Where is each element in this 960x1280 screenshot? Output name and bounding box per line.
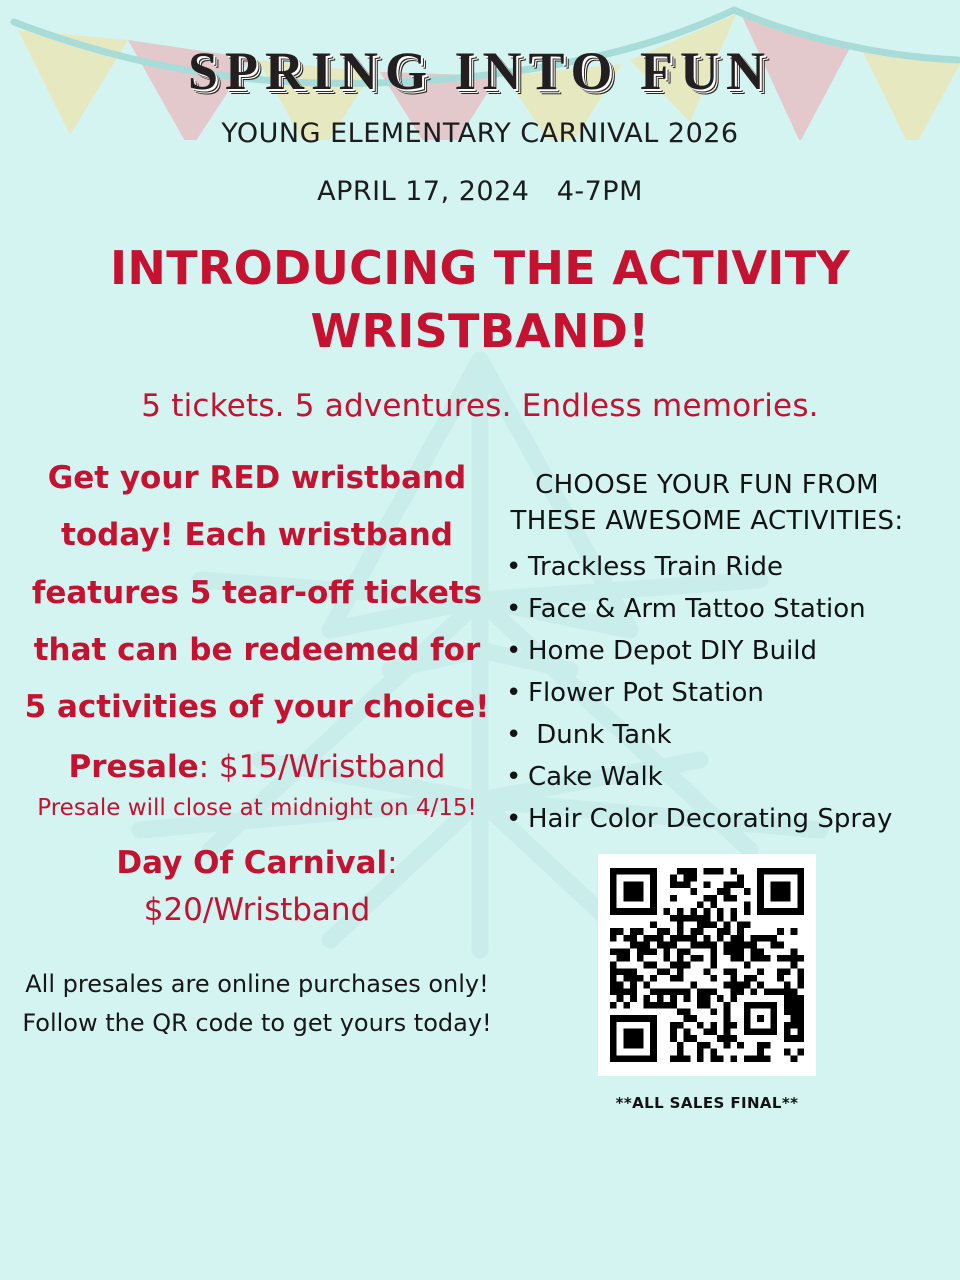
list-item: Cake Walk — [498, 756, 922, 798]
list-item: Home Depot DIY Build — [498, 630, 922, 672]
activities-heading: CHOOSE YOUR FUN FROM THESE AWESOME ACTIV… — [492, 468, 922, 540]
dayof-label: Day Of Carnival — [116, 845, 387, 881]
list-item: Face & Arm Tattoo Station — [498, 588, 922, 630]
headline-line-1: INTRODUCING THE ACTIVITY — [85, 237, 875, 300]
presale-price-line: Presale: $15/Wristband — [22, 747, 492, 788]
wristband-pitch: Get your RED wristband today! Each wrist… — [22, 450, 492, 737]
qr-code[interactable] — [598, 854, 816, 1076]
headline-block: INTRODUCING THE ACTIVITY WRISTBAND! — [85, 237, 875, 364]
flyer-header: SPRING INTO FUN YOUNG ELEMENTARY CARNIVA… — [0, 0, 960, 207]
dayof-colon: : — [387, 845, 397, 881]
closing-instructions: All presales are online purchases only! … — [22, 965, 492, 1043]
presale-amount: : $15/Wristband — [199, 749, 446, 785]
list-item: Flower Pot Station — [498, 672, 922, 714]
list-item: Dunk Tank — [498, 714, 922, 756]
event-subtitle: YOUNG ELEMENTARY CARNIVAL 2026 — [0, 118, 960, 149]
carnival-flyer: SPRING INTO FUN YOUNG ELEMENTARY CARNIVA… — [0, 0, 960, 1280]
event-datetime: APRIL 17, 2024 4-7PM — [0, 176, 960, 207]
presale-label: Presale — [69, 749, 199, 785]
headline-line-2: WRISTBAND! — [85, 300, 875, 363]
presale-note: Presale will close at midnight on 4/15! — [22, 792, 492, 825]
all-sales-final-note: **ALL SALES FINAL** — [492, 1094, 922, 1112]
body-columns: Get your RED wristband today! Each wrist… — [0, 450, 960, 1113]
list-item: Hair Color Decorating Spray — [498, 798, 922, 840]
tagline: 5 tickets. 5 adventures. Endless memorie… — [0, 388, 960, 424]
right-column: CHOOSE YOUR FUN FROM THESE AWESOME ACTIV… — [492, 450, 922, 1113]
main-title: SPRING INTO FUN — [0, 44, 960, 98]
left-column: Get your RED wristband today! Each wrist… — [22, 450, 492, 1043]
dayof-price-line: Day Of Carnival: $20/Wristband — [22, 843, 492, 931]
activities-list: Trackless Train Ride Face & Arm Tattoo S… — [498, 546, 922, 841]
list-item: Trackless Train Ride — [498, 546, 922, 588]
dayof-amount: $20/Wristband — [22, 890, 492, 931]
